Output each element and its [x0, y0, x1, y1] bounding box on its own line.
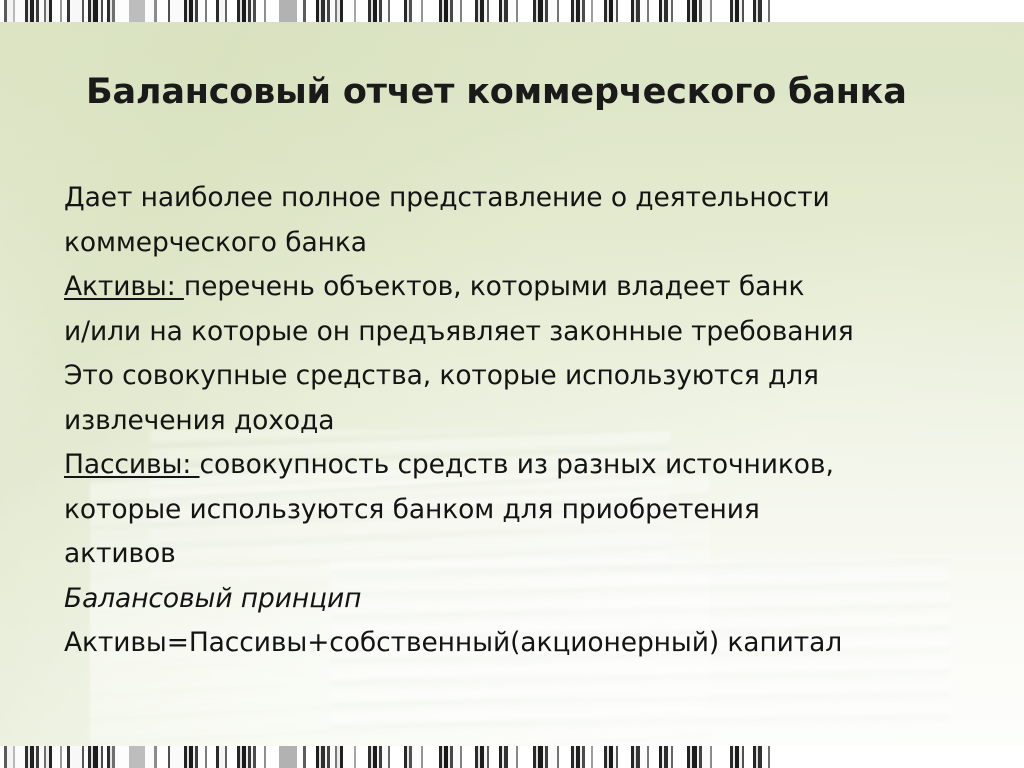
- body-line-text: Балансовый принцип: [64, 583, 361, 614]
- defined-term: Активы:: [64, 271, 184, 302]
- barcode-bar: [640, 746, 647, 768]
- barcode-bar: [640, 0, 647, 22]
- slide-body-text: Дает наиболее полное представление о дея…: [64, 176, 984, 666]
- barcode-bar: [423, 746, 439, 768]
- barcode-bar: [462, 746, 475, 768]
- barcode-bar: [15, 0, 25, 22]
- barcode-bar: [508, 746, 516, 768]
- barcode-bar: [618, 746, 631, 768]
- barcode-bar: [70, 0, 82, 22]
- barcode-bar: [618, 0, 631, 22]
- barcode-bar: [744, 746, 753, 768]
- barcode-bar: [115, 0, 129, 22]
- barcode-bar: [412, 746, 421, 768]
- barcode-bar: [518, 0, 533, 22]
- barcode-bar: [649, 746, 659, 768]
- barcode-bar: [227, 0, 237, 22]
- body-line: Балансовый принцип: [64, 577, 984, 622]
- barcode-bar: [343, 0, 354, 22]
- barcode-bar: [15, 746, 25, 768]
- barcode-border-top: [0, 0, 1024, 22]
- barcode-bar: [170, 746, 184, 768]
- barcode-bar: [702, 0, 710, 22]
- barcode-bar: [306, 746, 316, 768]
- barcode-bar: [157, 0, 168, 22]
- barcode-bar: [548, 746, 557, 768]
- barcode-bar: [207, 746, 216, 768]
- barcode-bar: [593, 746, 604, 768]
- barcode-bar: [170, 0, 184, 22]
- body-line-text: активов: [64, 538, 176, 569]
- barcode-bar: [489, 0, 499, 22]
- barcode-bar: [559, 0, 571, 22]
- barcode-bar: [356, 0, 368, 22]
- body-line: извлечения дохода: [64, 399, 984, 444]
- barcode-bar: [279, 0, 297, 22]
- body-line-text: Активы=Пассивы+собственный(акционерный) …: [64, 627, 842, 658]
- barcode-bar: [712, 0, 730, 22]
- barcode-border-bottom: [0, 746, 1024, 768]
- barcode-bar: [412, 0, 421, 22]
- barcode-bar: [770, 0, 782, 22]
- body-line: Это совокупные средства, которые использ…: [64, 354, 984, 399]
- barcode-bar: [129, 0, 145, 22]
- barcode-bar: [559, 746, 571, 768]
- slide-canvas: Балансовый отчет коммерческого банка Дае…: [0, 0, 1024, 768]
- barcode-bar: [390, 0, 404, 22]
- barcode-bar: [157, 746, 168, 768]
- body-line: Активы=Пассивы+собственный(акционерный) …: [64, 621, 984, 666]
- body-line-text: Это совокупные средства, которые использ…: [64, 360, 819, 391]
- barcode-bar: [227, 746, 237, 768]
- barcode-bar: [712, 746, 730, 768]
- barcode-bar: [256, 746, 264, 768]
- body-line-text: Дает наиболее полное представление о дея…: [64, 182, 830, 213]
- barcode-bar: [256, 0, 264, 22]
- body-line: коммерческого банка: [64, 221, 984, 266]
- barcode-bar: [489, 746, 499, 768]
- barcode-bar: [518, 746, 533, 768]
- barcode-bar: [52, 0, 60, 22]
- barcode-bar: [198, 746, 205, 768]
- body-line: Дает наиболее полное представление о дея…: [64, 176, 984, 221]
- barcode-bar: [52, 746, 60, 768]
- body-line-text: которые используются банком для приобрет…: [64, 494, 760, 525]
- barcode-bar: [673, 746, 687, 768]
- barcode-bar: [306, 0, 316, 22]
- barcode-bar: [423, 0, 439, 22]
- page-title: Балансовый отчет коммерческого банка: [86, 70, 966, 114]
- body-line-text: коммерческого банка: [64, 227, 367, 258]
- barcode-bar: [702, 746, 710, 768]
- barcode-bar: [266, 746, 279, 768]
- body-line: и/или на которые он предъявляет законные…: [64, 310, 984, 355]
- barcode-bar: [462, 0, 475, 22]
- barcode-bar: [673, 0, 687, 22]
- body-line: которые используются банком для приобрет…: [64, 488, 984, 533]
- body-line-text: совокупность средств из разных источнико…: [200, 449, 834, 480]
- barcode-bar: [145, 0, 154, 22]
- body-line: Активы: перечень объектов, которыми влад…: [64, 265, 984, 310]
- barcode-bar: [70, 746, 82, 768]
- barcode-bar: [266, 0, 279, 22]
- body-line: Пассивы: совокупность средств из разных …: [64, 443, 984, 488]
- barcode-bar: [356, 746, 368, 768]
- barcode-bar: [279, 746, 297, 768]
- barcode-bar: [390, 746, 404, 768]
- barcode-bar: [145, 746, 154, 768]
- barcode-bar: [593, 0, 604, 22]
- barcode-bar: [453, 746, 460, 768]
- barcode-bar: [115, 746, 129, 768]
- barcode-bar: [129, 746, 145, 768]
- barcode-bar: [207, 0, 216, 22]
- barcode-bar: [770, 746, 782, 768]
- barcode-bar: [198, 0, 205, 22]
- barcode-bar: [548, 0, 557, 22]
- body-line: активов: [64, 532, 984, 577]
- barcode-bar: [649, 0, 659, 22]
- barcode-bar: [508, 0, 516, 22]
- barcode-bar: [744, 0, 753, 22]
- defined-term: Пассивы:: [64, 449, 200, 480]
- body-line-text: извлечения дохода: [64, 405, 334, 436]
- barcode-bar: [453, 0, 460, 22]
- body-line-text: перечень объектов, которыми владеет банк: [184, 271, 805, 302]
- body-line-text: и/или на которые он предъявляет законные…: [64, 316, 854, 347]
- barcode-bar: [343, 746, 354, 768]
